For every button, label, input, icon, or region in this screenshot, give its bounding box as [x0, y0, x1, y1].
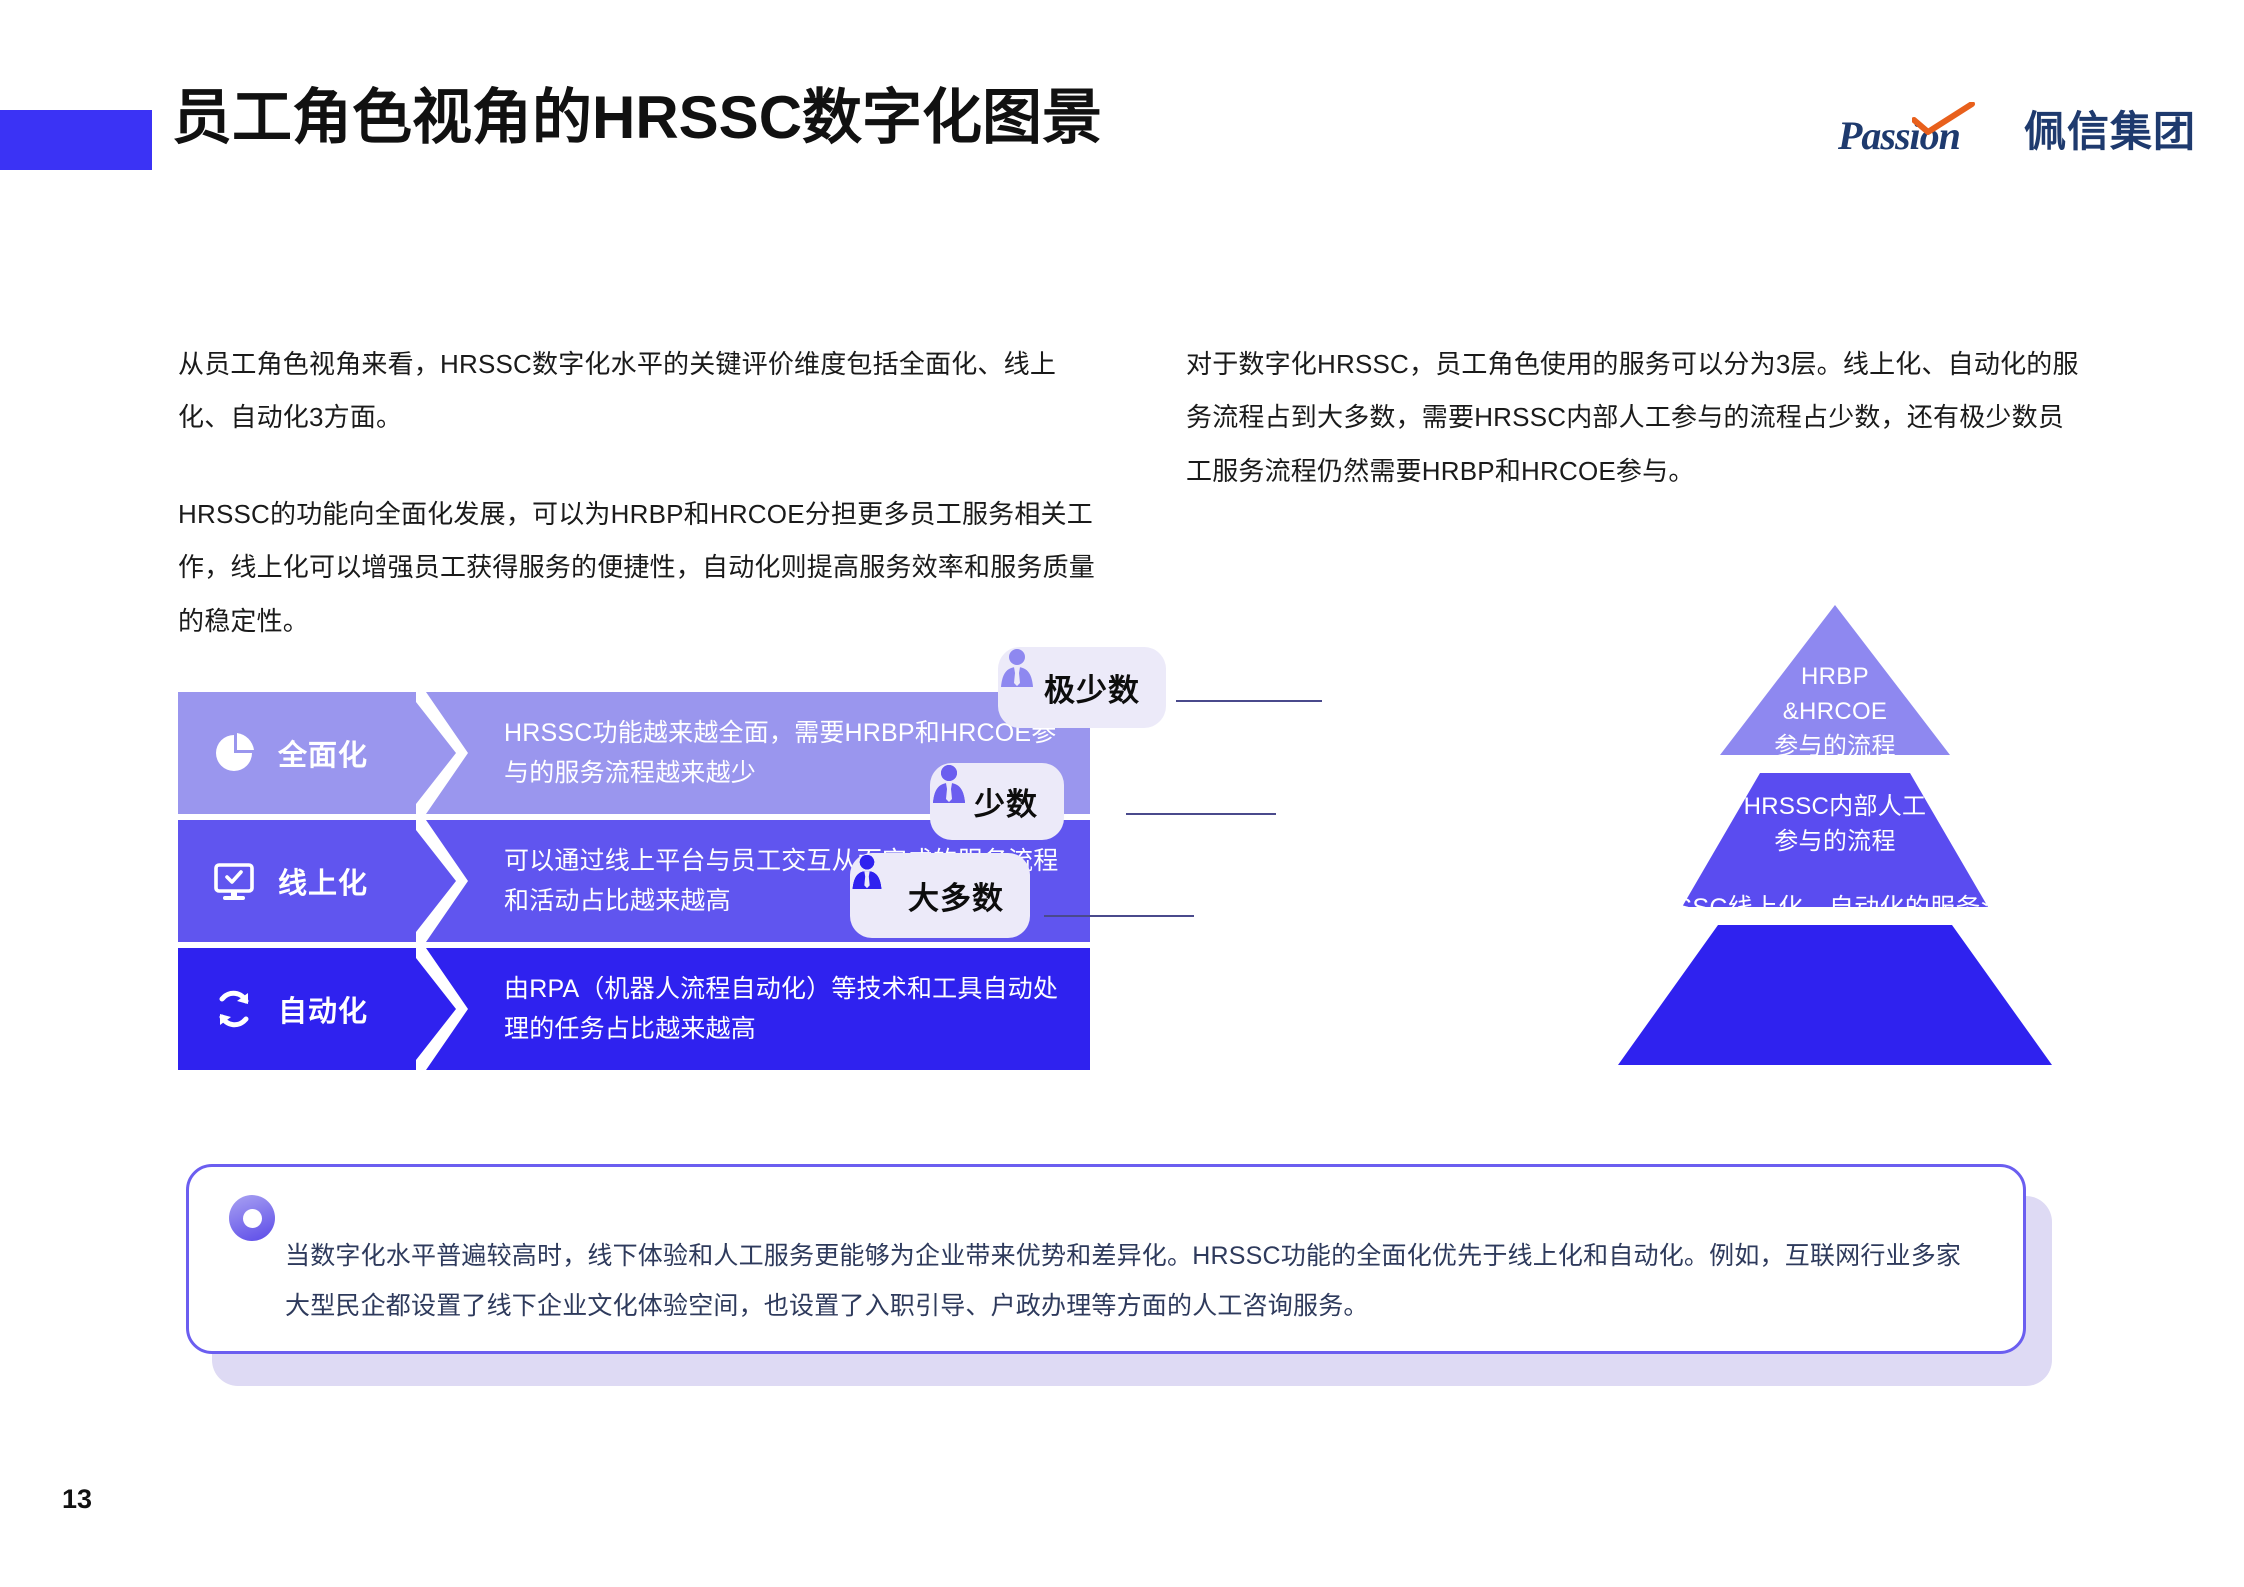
- dimension-card-label: 线上化: [278, 860, 368, 902]
- logo-passion-mark: Passion: [1838, 106, 2014, 158]
- dimension-card-automation[interactable]: 自动化 由RPA（机器人流程自动化）等技术和工具自动处理的任务占比越来越高: [178, 948, 1090, 1070]
- monitor-check-icon: [212, 859, 256, 903]
- pyramid-middle-line-1: HRSSC内部人工: [1690, 790, 1980, 825]
- pyramid-top-line-2: &HRCOE: [1730, 695, 1940, 730]
- pyramid-top-line-1: HRBP: [1730, 660, 1940, 695]
- dimension-card-label: 自动化: [278, 988, 368, 1030]
- person-tie-icon: [850, 853, 884, 891]
- intro-paragraph-right-1: 对于数字化HRSSC，员工角色使用的服务可以分为3层。线上化、自动化的服务流程占…: [1186, 338, 2086, 498]
- dimension-card-label-area: 全面化: [178, 692, 426, 814]
- intro-paragraph-left-2: HRSSC的功能向全面化发展，可以为HRBP和HRCOE分担更多员工服务相关工作…: [178, 488, 1108, 648]
- pyramid-layer-top-label: HRBP &HRCOE 参与的流程: [1730, 660, 1940, 764]
- pyramid-badge-majority[interactable]: 大多数: [850, 853, 1030, 938]
- callout-box: 当数字化水平普遍较高时，线下体验和人工服务更能够为企业带来优势和差异化。HRSS…: [186, 1164, 2026, 1354]
- pyramid-badge-label: 少数: [974, 779, 1038, 824]
- service-layer-pyramid: HRBP &HRCOE 参与的流程 HRSSC内部人工 参与的流程 HRSSC线…: [1190, 585, 2190, 1085]
- pyramid-badge-label: 大多数: [908, 873, 1004, 918]
- logo-chinese-text: 佩信集团: [2024, 111, 2196, 153]
- pyramid-bottom-line-1: HRSSC线上化、自动化的服务流程: [1600, 890, 2070, 926]
- circle-ring-icon: [229, 1195, 275, 1241]
- pyramid-layer-middle-label: HRSSC内部人工 参与的流程: [1690, 790, 1980, 860]
- header-accent-bar: [0, 110, 152, 170]
- pyramid-connector-middle: [1126, 813, 1276, 815]
- person-tie-icon: [930, 763, 968, 805]
- pyramid-connector-top: [1176, 700, 1322, 702]
- person-tie-icon: [998, 647, 1036, 689]
- pyramid-layer-bottom-label: HRSSC线上化、自动化的服务流程: [1600, 890, 2070, 926]
- dimension-card-label-area: 线上化: [178, 820, 426, 942]
- callout-text: 当数字化水平普遍较高时，线下体验和人工服务更能够为企业带来优势和差异化。HRSS…: [285, 1231, 1975, 1331]
- pyramid-middle-line-2: 参与的流程: [1690, 825, 1980, 860]
- page-title: 员工角色视角的HRSSC数字化图景: [172, 82, 1102, 154]
- pyramid-badge-few[interactable]: 少数: [930, 763, 1064, 840]
- pyramid-badge-label: 极少数: [1044, 665, 1140, 710]
- pyramid-layer-bottom: [1618, 925, 2052, 1065]
- refresh-cycle-icon: [212, 987, 256, 1031]
- brand-logo: Passion 佩信集团: [1838, 104, 2196, 160]
- dimension-card-label-area: 自动化: [178, 948, 426, 1070]
- pie-chart-icon: [212, 731, 256, 775]
- pyramid-top-line-3: 参与的流程: [1730, 730, 1940, 765]
- intro-paragraph-left-1: 从员工角色视角来看，HRSSC数字化水平的关键评价维度包括全面化、线上化、自动化…: [178, 338, 1108, 445]
- dimension-card-label: 全面化: [278, 732, 368, 774]
- dimension-card-description: 由RPA（机器人流程自动化）等技术和工具自动处理的任务占比越来越高: [426, 948, 1090, 1070]
- pyramid-badge-very-few[interactable]: 极少数: [998, 647, 1166, 728]
- page-number: 13: [62, 1484, 92, 1515]
- check-icon: [1912, 102, 1976, 136]
- pyramid-connector-bottom: [1044, 915, 1194, 917]
- slide-root: 员工角色视角的HRSSC数字化图景 Passion 佩信集团 从员工角色视角来看…: [0, 0, 2244, 1587]
